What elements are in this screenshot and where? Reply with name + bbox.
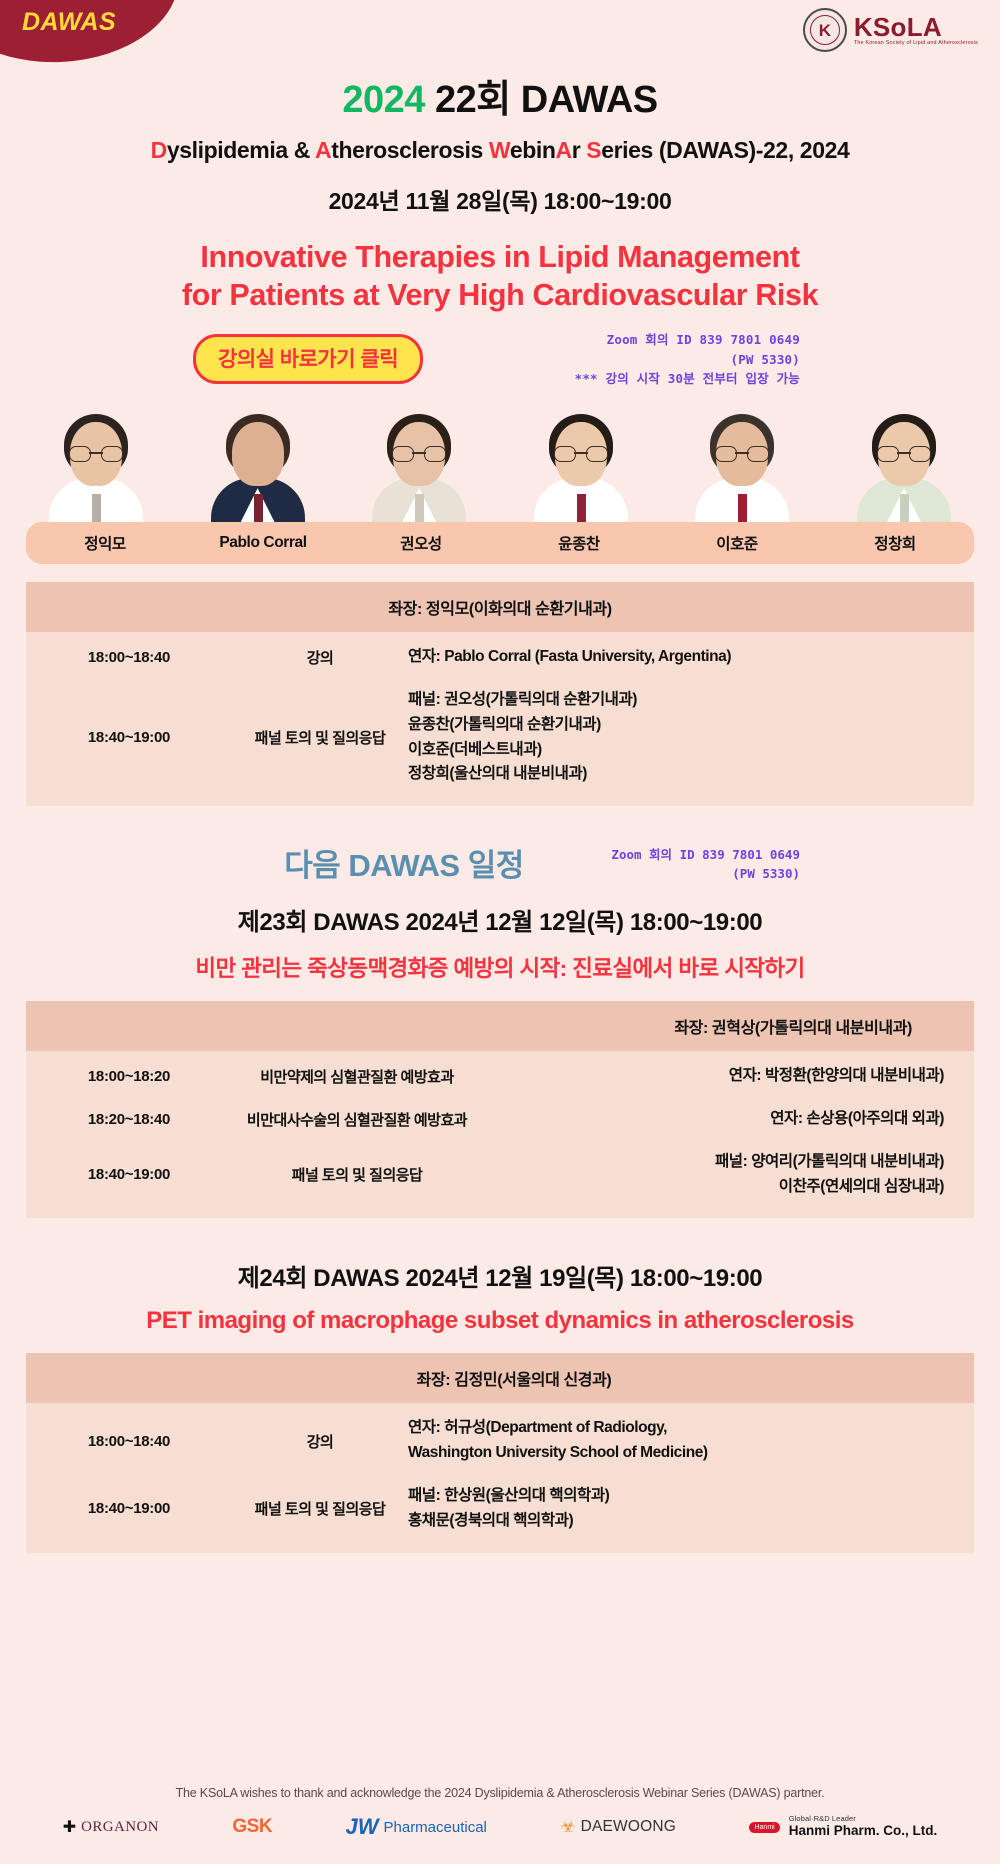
session24-chair: 좌장: 김정민(서울의대 신경과) (26, 1353, 974, 1403)
session24-rows: 18:00~18:40강의연자: 허규성(Department of Radio… (26, 1403, 974, 1552)
series-part-2: A (315, 137, 331, 163)
speaker-photo (682, 404, 802, 522)
program-time: 18:00~18:40 (26, 649, 232, 666)
avatar-tie (900, 494, 909, 522)
series-part-6: A (556, 137, 572, 163)
program-person: 연자: 박정환(한양의대 내분비내과) (482, 1064, 974, 1089)
ksola-subtitle: The Korean Society of Lipid and Atherosc… (854, 41, 978, 47)
avatar-tie (577, 494, 586, 522)
sponsor-logo-gsk: GSK (232, 1816, 272, 1838)
speaker-name: 정창희 (816, 532, 974, 554)
session24-date: 제24회 DAWAS 2024년 12월 19일(목) 18:00~19:00 (0, 1258, 1000, 1293)
program-person: 연자: 허규성(Department of Radiology, Washing… (408, 1416, 974, 1466)
series-subtitle: Dyslipidemia & Atherosclerosis WebinAr S… (0, 137, 1000, 164)
series-part-0: D (151, 137, 167, 163)
page-header: DAWAS K KSoLA The Korean Society of Lipi… (0, 0, 1000, 62)
program-time: 18:40~19:00 (26, 729, 232, 746)
program-person: 패널: 권오성(가톨릭의대 순환기내과) 윤종찬(가톨릭의대 순환기내과) 이호… (408, 688, 974, 787)
glasses-icon (877, 446, 931, 460)
avatar-head (232, 422, 284, 486)
organon-label: ORGANON (81, 1819, 159, 1836)
program-row: 18:20~18:40비만대사수술의 심혈관질환 예방효과연자: 손상용(아주의… (26, 1098, 974, 1141)
avatar (376, 410, 462, 522)
avatar (53, 410, 139, 522)
program-row: 18:40~19:00패널 토의 및 질의응답패널: 양여리(가톨릭의대 내분비… (26, 1141, 974, 1209)
speaker-name: Pablo Corral (184, 534, 342, 552)
enter-lecture-room-button[interactable]: 강의실 바로가기 클릭 (193, 334, 423, 384)
program-time: 18:20~18:40 (26, 1111, 232, 1128)
program-time: 18:00~18:20 (26, 1068, 232, 1085)
event-datetime: 2024년 11월 28일(목) 18:00~19:00 (0, 182, 1000, 216)
speaker-name: 윤종찬 (500, 532, 658, 554)
speaker-name: 정익모 (26, 532, 184, 554)
speaker-photo (521, 404, 641, 522)
program-row: 18:40~19:00패널 토의 및 질의응답패널: 한상원(울산의대 핵의학과… (26, 1475, 974, 1543)
series-part-3: therosclerosis (331, 137, 489, 163)
daewoong-mark-icon: ☣ (560, 1817, 575, 1837)
series-part-5: ebin (510, 137, 556, 163)
sponsor-thanks-text: The KSoLA wishes to thank and acknowledg… (0, 1780, 1000, 1800)
avatar (861, 410, 947, 522)
hanmi-label: Hanmi Pharm. Co., Ltd. (789, 1824, 938, 1839)
ksola-wordmark: KSoLA The Korean Society of Lipid and At… (854, 14, 978, 47)
program-time: 18:40~19:00 (26, 1500, 232, 1517)
avatar-tie (738, 494, 747, 522)
program-topic: 패널 토의 및 질의응답 (232, 1498, 408, 1519)
sponsor-logo-daewoong: ☣ DAEWOONG (560, 1817, 676, 1837)
program-table-session22: 좌장: 정익모(이화의대 순환기내과) 18:00~18:40강의연자: Pab… (26, 582, 974, 806)
program-row: 18:00~18:20비만약제의 심혈관질환 예방효과연자: 박정환(한양의대 … (26, 1055, 974, 1098)
hanmi-pill-icon: Hanmi (749, 1822, 779, 1833)
speaker-photo (36, 404, 156, 522)
avatar (215, 410, 301, 522)
lecture-title-line2: for Patients at Very High Cardiovascular… (0, 276, 1000, 314)
speaker-name: 권오성 (342, 532, 500, 554)
speaker-photo (844, 404, 964, 522)
avatar (538, 410, 624, 522)
glasses-icon (554, 446, 608, 460)
access-row: 강의실 바로가기 클릭 Zoom 회의 ID 839 7801 0649 (PW… (0, 330, 1000, 394)
program-time: 18:00~18:40 (26, 1433, 232, 1450)
speaker-name-band: 정익모Pablo Corral권오성윤종찬이호준정창희 (26, 522, 974, 564)
session23-chair: 좌장: 권혁상(가톨릭의대 내분비내과) (26, 1001, 974, 1051)
series-part-8: S (586, 137, 601, 163)
program-person: 연자: 손상용(아주의대 외과) (482, 1107, 974, 1132)
avatar-tie (415, 494, 424, 522)
session22-chair: 좌장: 정익모(이화의대 순환기내과) (26, 582, 974, 632)
ksola-logo: K KSoLA The Korean Society of Lipid and … (803, 8, 978, 52)
hanmi-wordmark: Global·R&D Leader Hanmi Pharm. Co., Ltd. (789, 1815, 938, 1838)
page-title: 2024 22회 DAWAS (0, 68, 1000, 123)
session23-date: 제23회 DAWAS 2024년 12월 12일(목) 18:00~19:00 (0, 902, 1000, 937)
speaker-photo (359, 404, 479, 522)
glasses-icon (715, 446, 769, 460)
avatar (699, 410, 785, 522)
program-topic: 비만대사수술의 심혈관질환 예방효과 (232, 1109, 482, 1130)
program-topic: 비만약제의 심혈관질환 예방효과 (232, 1066, 482, 1087)
speaker-photo (198, 404, 318, 522)
speaker-photo-strip (36, 400, 964, 522)
program-topic: 패널 토의 및 질의응답 (232, 727, 408, 748)
sponsor-logo-hanmi: Hanmi Global·R&D Leader Hanmi Pharm. Co.… (749, 1815, 937, 1838)
hero-year: 2024 (342, 79, 425, 121)
daewoong-label: DAEWOONG (581, 1818, 676, 1836)
series-part-7: r (572, 137, 587, 163)
speaker-name: 이호준 (658, 532, 816, 554)
lecture-title-line1: Innovative Therapies in Lipid Management (0, 238, 1000, 276)
next-schedule-header: 다음 DAWAS 일정 Zoom 회의 ID 839 7801 0649 (PW… (0, 840, 1000, 898)
program-topic: 강의 (232, 647, 408, 668)
program-person: 패널: 한상원(울산의대 핵의학과) 홍채문(경북의대 핵의학과) (408, 1484, 974, 1534)
program-row: 18:00~18:40강의연자: 허규성(Department of Radio… (26, 1407, 974, 1475)
gsk-label: GSK (232, 1816, 272, 1838)
session24-topic: PET imaging of macrophage subset dynamic… (0, 1307, 1000, 1335)
lecture-title: Innovative Therapies in Lipid Management… (0, 238, 1000, 314)
organon-mark-icon: ✚ (63, 1817, 76, 1837)
sponsor-logo-jw: JW Pharmaceutical (346, 1814, 487, 1840)
program-table-session24: 좌장: 김정민(서울의대 신경과) 18:00~18:40강의연자: 허규성(D… (26, 1353, 974, 1552)
series-part-1: yslipidemia & (167, 137, 315, 163)
ksola-name: KSoLA (854, 14, 978, 41)
session22-rows: 18:00~18:40강의연자: Pablo Corral (Fasta Uni… (26, 632, 974, 806)
next-schedule-title: 다음 DAWAS 일정 (284, 840, 523, 885)
program-topic: 패널 토의 및 질의응답 (232, 1164, 482, 1185)
series-part-4: W (489, 137, 510, 163)
program-table-session23: 좌장: 권혁상(가톨릭의대 내분비내과) 18:00~18:20비만약제의 심혈… (26, 1001, 974, 1218)
program-person: 패널: 양여리(가톨릭의대 내분비내과) 이찬주(연세의대 심장내과) (482, 1150, 974, 1200)
session23-rows: 18:00~18:20비만약제의 심혈관질환 예방효과연자: 박정환(한양의대 … (26, 1051, 974, 1218)
page-footer: The KSoLA wishes to thank and acknowledg… (0, 1780, 1000, 1864)
avatar-tie (254, 494, 263, 522)
session23-topic: 비만 관리는 죽상동맥경화증 예방의 시작: 진료실에서 바로 시작하기 (0, 951, 1000, 983)
program-row: 18:00~18:40강의연자: Pablo Corral (Fasta Uni… (26, 636, 974, 679)
jw-label: JW (346, 1814, 379, 1840)
program-person: 연자: Pablo Corral (Fasta University, Arge… (408, 645, 974, 670)
hero-titles: 2024 22회 DAWAS Dyslipidemia & Atheroscle… (0, 68, 1000, 314)
dawas-brand-label: DAWAS (22, 8, 116, 37)
sponsor-logo-row: ✚ ORGANON GSK JW Pharmaceutical ☣ DAEWOO… (0, 1814, 1000, 1840)
ksola-seal-letter: K (819, 22, 831, 39)
ksola-seal-icon: K (803, 8, 847, 52)
program-time: 18:40~19:00 (26, 1166, 232, 1183)
series-part-9: eries (DAWAS)-22, 2024 (601, 137, 849, 163)
next-zoom-meeting-info: Zoom 회의 ID 839 7801 0649 (PW 5330) (611, 846, 800, 884)
jw-suffix-label: Pharmaceutical (384, 1819, 487, 1836)
program-topic: 강의 (232, 1431, 408, 1452)
sponsor-logo-organon: ✚ ORGANON (63, 1817, 159, 1837)
program-row: 18:40~19:00패널 토의 및 질의응답패널: 권오성(가톨릭의대 순환기… (26, 679, 974, 796)
zoom-meeting-info: Zoom 회의 ID 839 7801 0649 (PW 5330) *** 강… (575, 330, 800, 388)
glasses-icon (69, 446, 123, 460)
glasses-icon (392, 446, 446, 460)
hero-edition: 22회 DAWAS (425, 79, 658, 121)
avatar-tie (92, 494, 101, 522)
